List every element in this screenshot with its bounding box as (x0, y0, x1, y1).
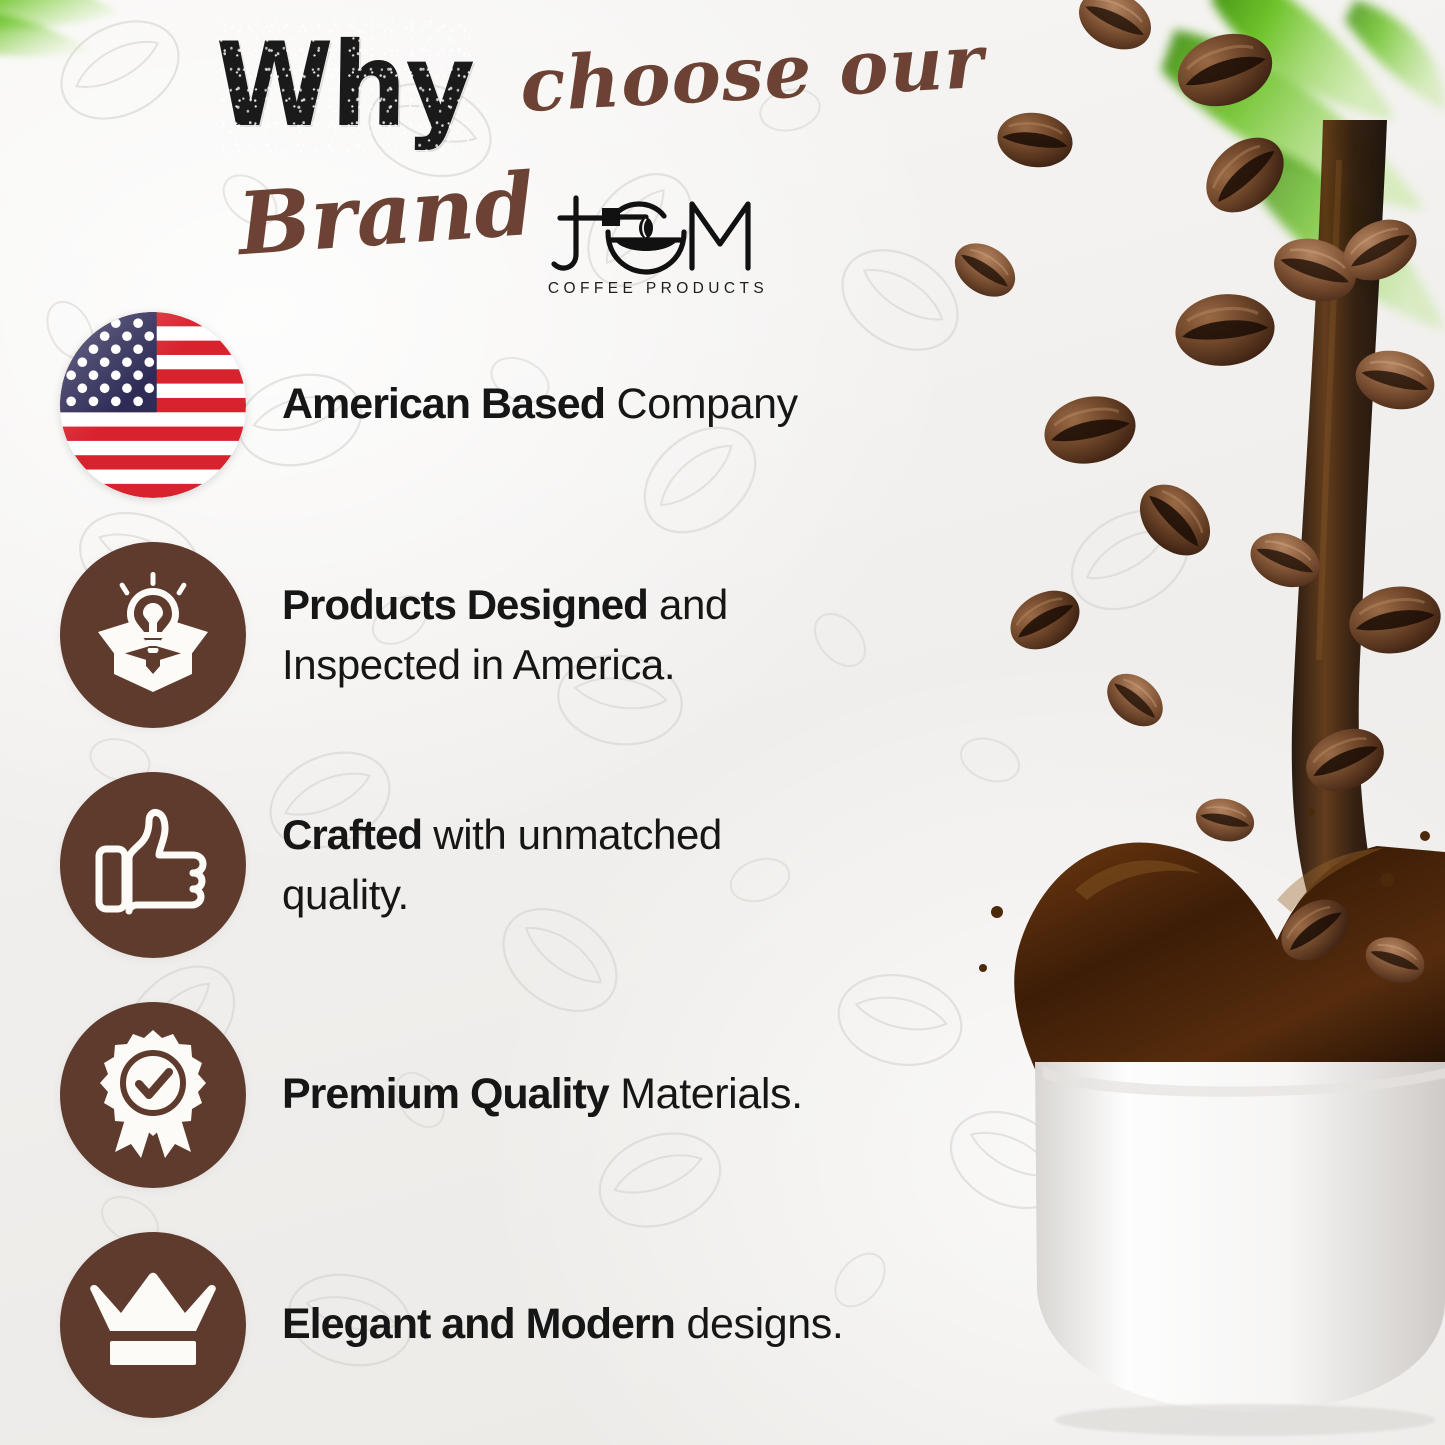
award-ribbon-check-icon (60, 1002, 246, 1188)
feature-row: Elegant and Modern designs. (58, 1210, 1028, 1440)
feature-text-line-1: Products Designed and (282, 575, 1028, 635)
feature-text: Elegant and Modern designs. (248, 1294, 1028, 1355)
feature-icon-wrapper (58, 770, 248, 960)
headline-word-why: Why (214, 18, 474, 153)
feature-row: American Based Company (58, 290, 1028, 520)
feature-text-bold: Premium Quality (282, 1070, 609, 1118)
feature-text: Premium Quality Materials. (248, 1064, 1028, 1125)
feature-list: American Based Company (58, 290, 1028, 1440)
feature-text-regular: and (648, 581, 728, 628)
headline-block: Whychoose our Brand (0, 8, 1000, 259)
feature-text: Products Designed and Inspected in Ameri… (248, 575, 1028, 694)
feature-text-line-2: Inspected in America. (282, 635, 1028, 695)
headline-word-choose-our: choose our (518, 19, 986, 129)
feature-row: Premium Quality Materials. (58, 980, 1028, 1210)
crown-icon (60, 1232, 246, 1418)
feature-row: Crafted with unmatched quality. (58, 750, 1028, 980)
feature-text: American Based Company (248, 374, 1028, 435)
feature-text-bold: American Based (282, 380, 605, 428)
brand-tagline: COFFEE PRODUCTS (542, 280, 774, 298)
feature-text-regular: designs. (675, 1300, 844, 1348)
feature-icon-wrapper (58, 540, 248, 730)
usa-flag-circle-icon (60, 312, 246, 498)
feature-text-bold: Crafted (282, 811, 422, 858)
feature-row: Products Designed and Inspected in Ameri… (58, 520, 1028, 750)
thumbs-up-icon (60, 772, 246, 958)
feature-text: Crafted with unmatched quality. (248, 805, 1028, 924)
feature-icon-wrapper (58, 1000, 248, 1190)
feature-text-line-2: quality. (282, 865, 1028, 925)
lightbulb-in-box-icon (60, 542, 246, 728)
brand-logo: COFFEE PRODUCTS (542, 192, 774, 304)
infographic-canvas: Whychoose our Brand (0, 0, 1445, 1445)
feature-icon-wrapper (58, 310, 248, 500)
headline-line-1: Whychoose our (214, 8, 1000, 148)
feature-text-bold: Products Designed (282, 581, 648, 628)
feature-icon-wrapper (58, 1230, 248, 1420)
feature-text-regular: Materials. (609, 1070, 803, 1118)
jom-coffee-cup-bean-logo-icon (542, 192, 774, 278)
feature-text-regular: Company (605, 380, 798, 428)
feature-text-bold: Elegant and Modern (282, 1300, 675, 1348)
feature-text-line-1: Crafted with unmatched (282, 805, 1028, 865)
feature-text-regular: with unmatched (422, 811, 722, 858)
headline-word-brand: Brand (235, 154, 538, 275)
